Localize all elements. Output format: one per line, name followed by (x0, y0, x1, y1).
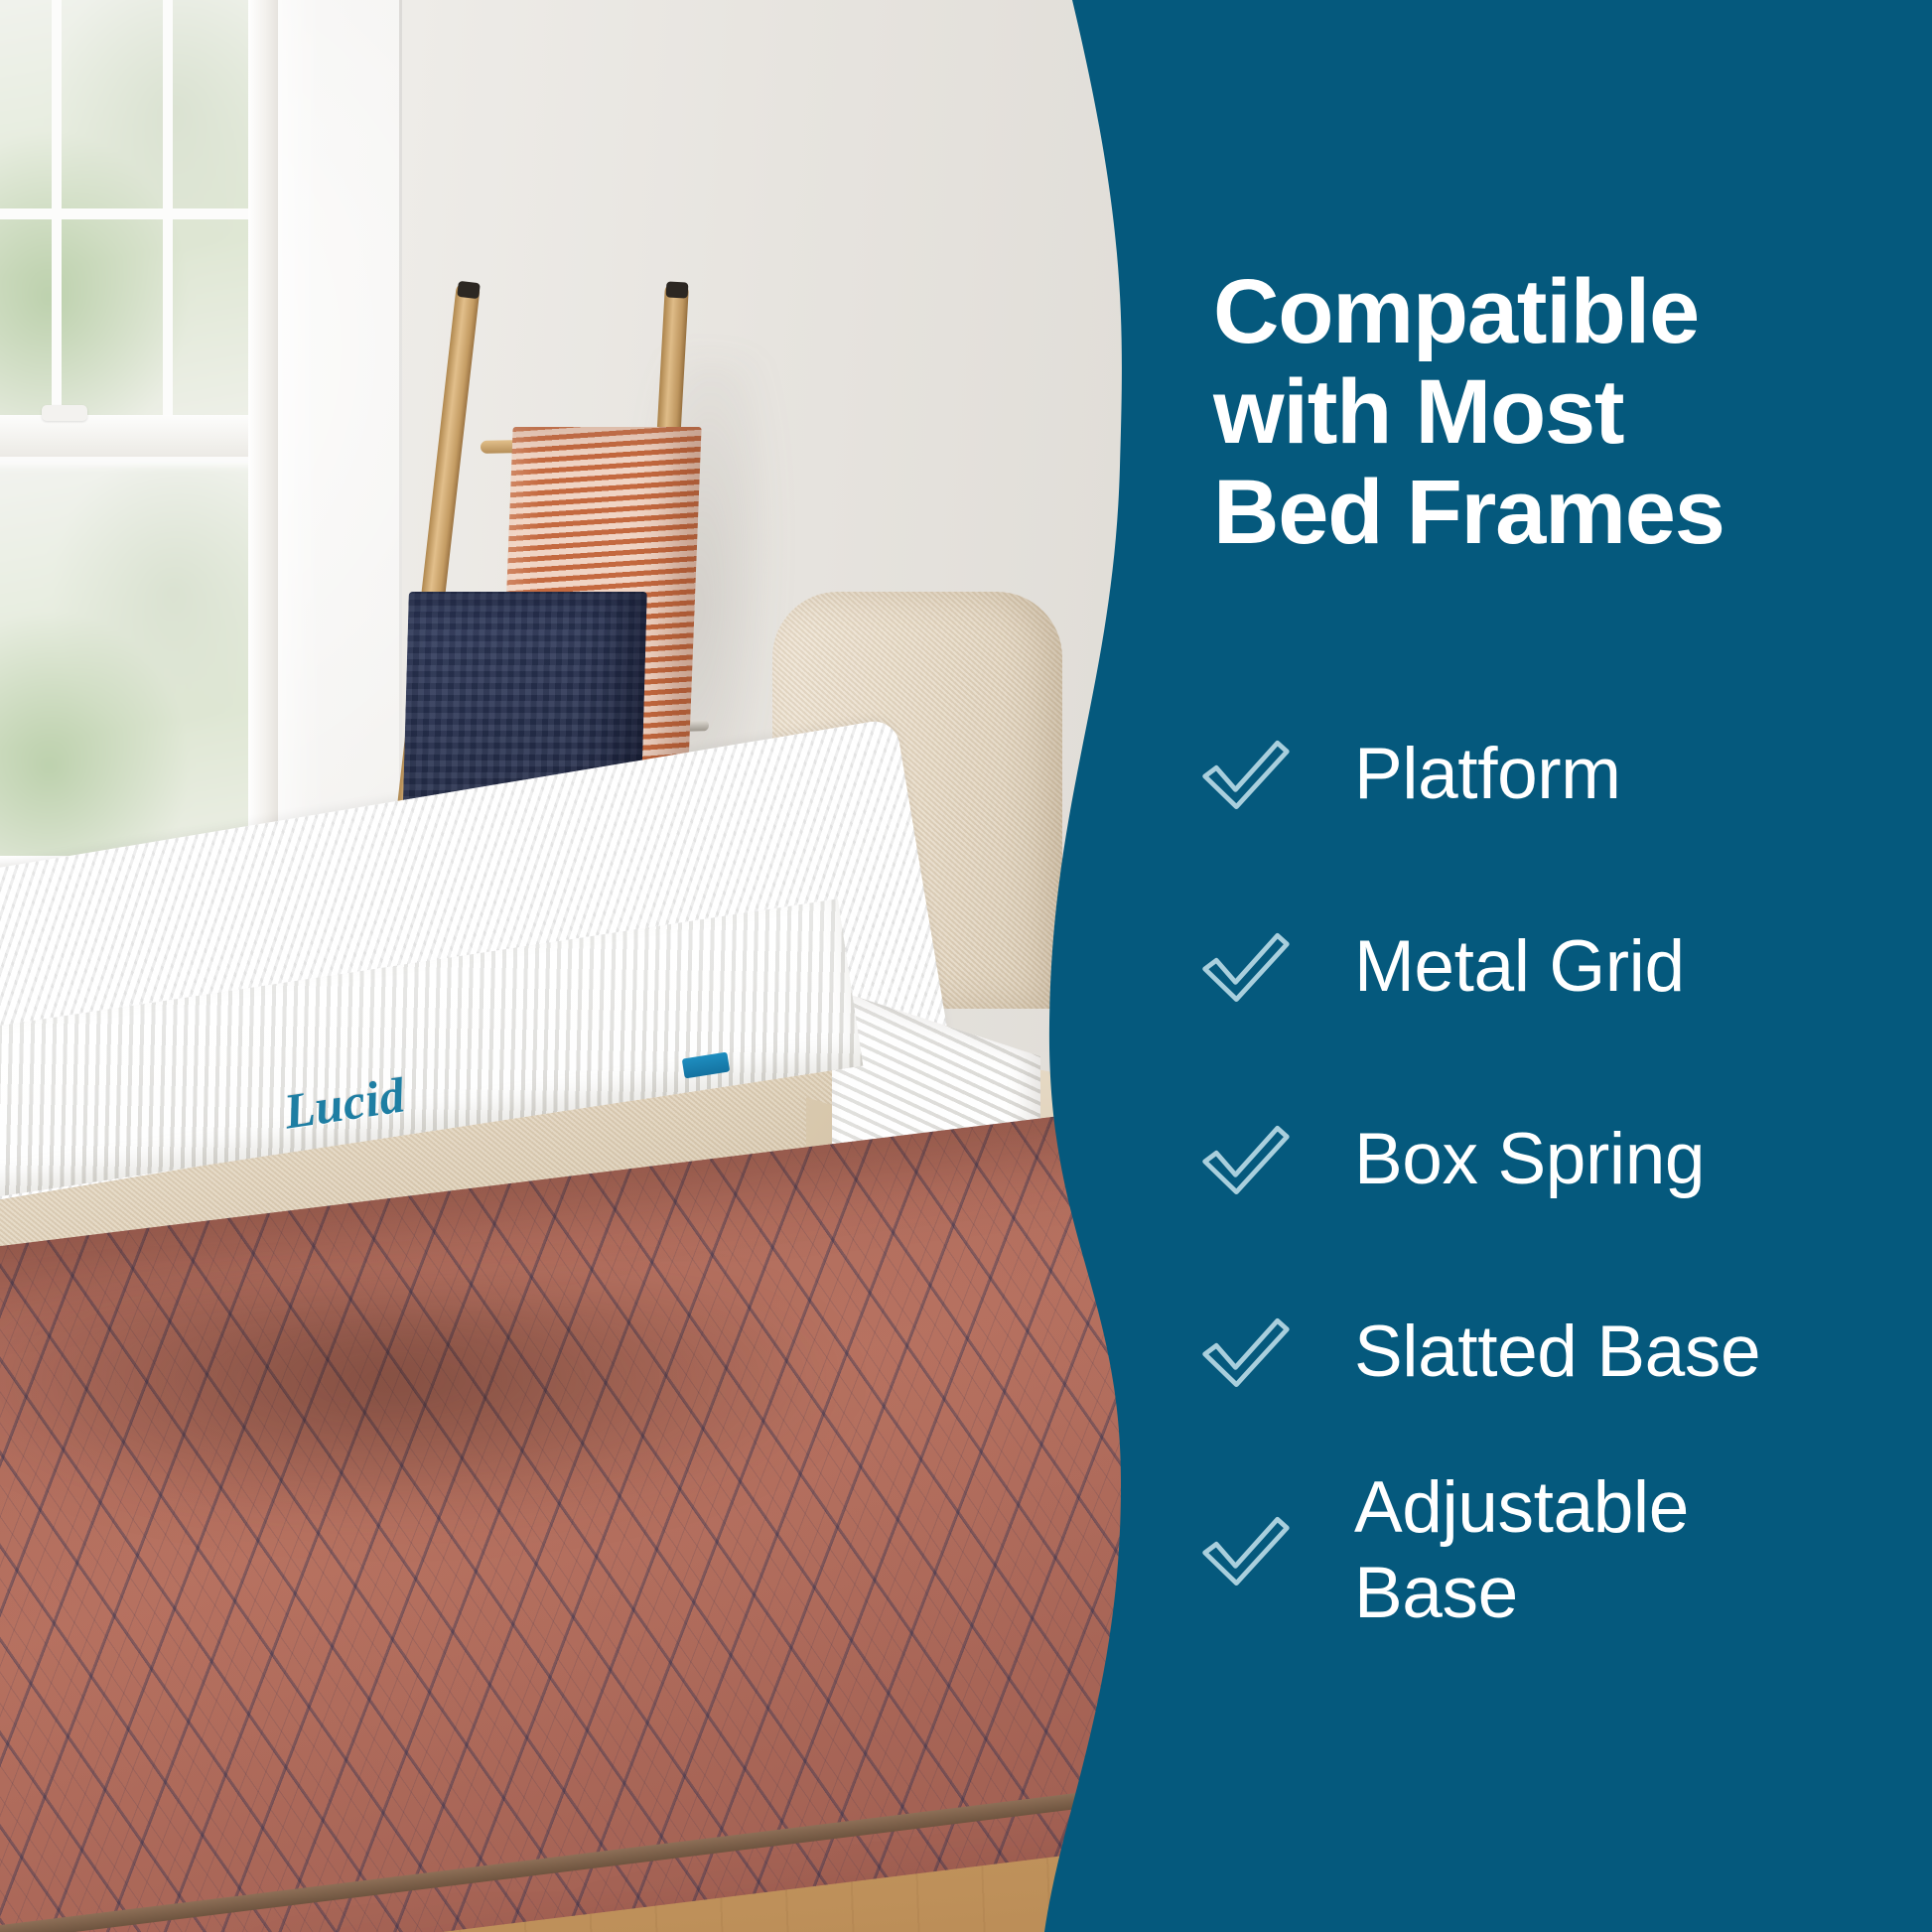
check-icon (1197, 1305, 1293, 1400)
feature-label: Slatted Base (1354, 1310, 1760, 1395)
list-item: Platform (1197, 695, 1912, 854)
feature-label: Metal Grid (1354, 924, 1685, 1010)
window-glass-lower (0, 467, 256, 884)
list-item: Slatted Base (1197, 1273, 1912, 1432)
product-feature-graphic: Lucid Compatible with Most Bed Frames Pl… (0, 0, 1932, 1932)
list-item: Adjustable Base (1197, 1465, 1912, 1636)
window-sash-lock (42, 405, 87, 421)
ladder-cap-left (457, 281, 481, 299)
ladder-cap-right (666, 281, 689, 298)
feature-label: Platform (1354, 732, 1621, 817)
feature-label: Adjustable Base (1354, 1465, 1689, 1636)
check-icon (1197, 919, 1293, 1015)
window-jamb (248, 0, 278, 894)
list-item: Box Spring (1197, 1080, 1912, 1239)
compatibility-feature-list: Platform Metal Grid Box Spring Slatted B… (1197, 695, 1912, 1636)
check-icon (1197, 1503, 1293, 1598)
panel-content: Compatible with Most Bed Frames (1213, 262, 1868, 564)
bedroom-photo: Lucid (0, 0, 1191, 1932)
check-icon (1197, 1112, 1293, 1207)
window-mullion-horizontal (0, 208, 256, 219)
feature-label: Box Spring (1354, 1117, 1705, 1202)
page-title: Compatible with Most Bed Frames (1213, 262, 1868, 564)
bed-floor-shadow (0, 1291, 973, 1588)
window-sash-rail (0, 415, 250, 457)
check-icon (1197, 727, 1293, 822)
list-item: Metal Grid (1197, 888, 1912, 1046)
